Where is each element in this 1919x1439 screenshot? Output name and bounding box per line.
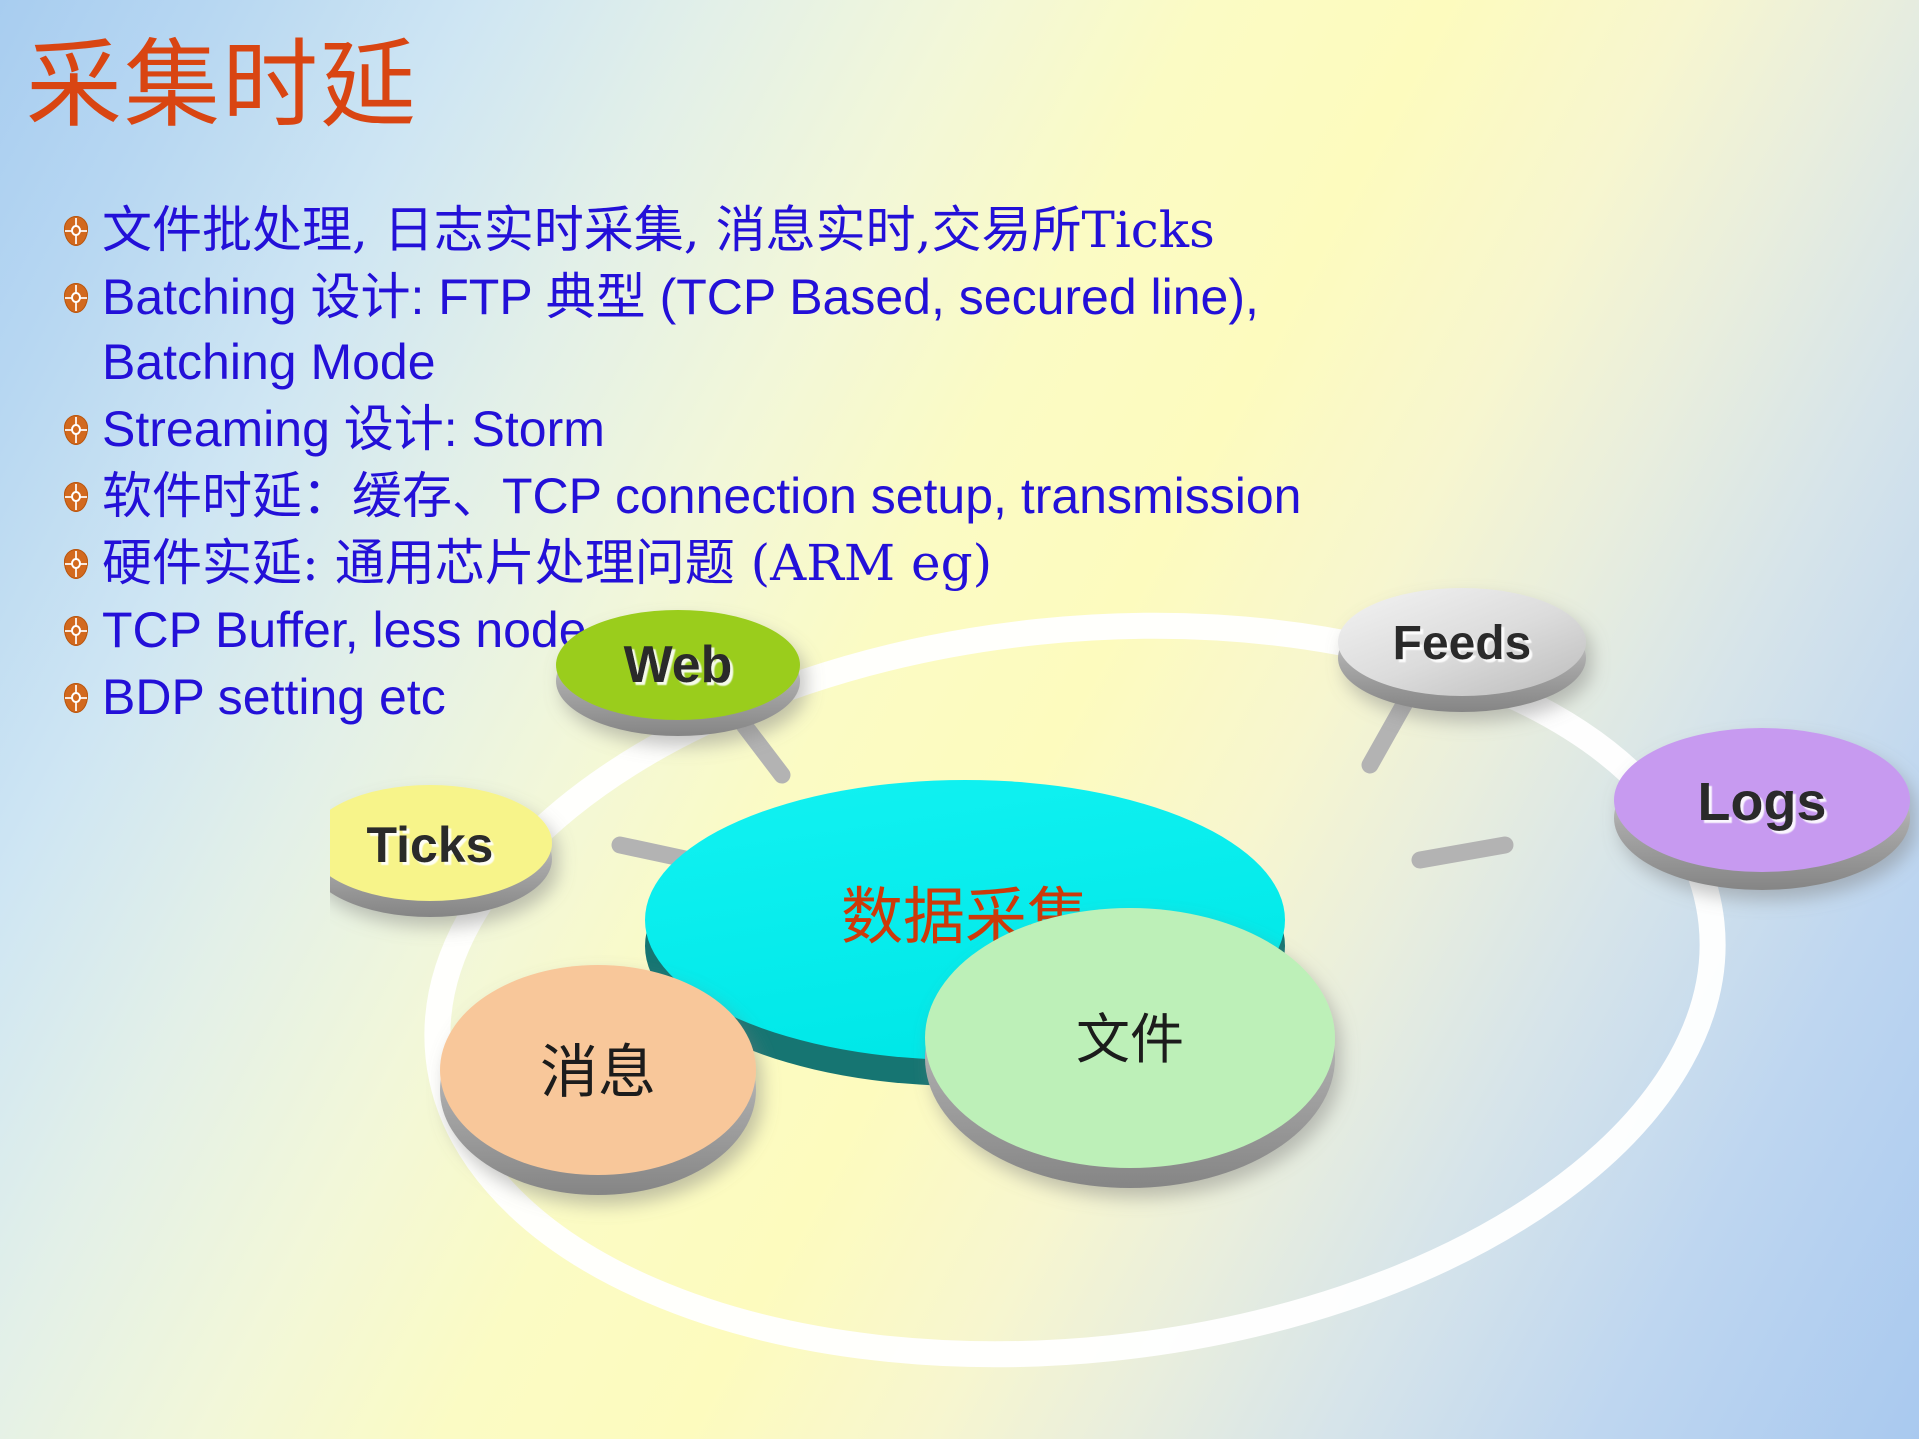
list-item-label: Batching 设计: FTP 典型 (TCP Based, secured … — [102, 265, 1346, 395]
list-item-label: Streaming 设计: Storm — [102, 397, 1346, 462]
list-item: Streaming 设计: Storm — [56, 397, 1346, 462]
node-messages-label: 消息 — [540, 1038, 656, 1106]
node-feeds[interactable]: Feeds — [1338, 588, 1586, 712]
node-web-label: Web — [624, 636, 733, 694]
node-ticks-label: Ticks — [367, 817, 494, 873]
node-files-label: 文件 — [1076, 1008, 1184, 1071]
node-web[interactable]: Web — [556, 610, 800, 736]
diamond-bullet-icon — [56, 545, 102, 595]
diamond-bullet-icon — [56, 679, 102, 729]
node-files[interactable]: 文件 — [925, 908, 1335, 1188]
diamond-bullet-icon — [56, 612, 102, 662]
list-item-label: 软件时延：缓存、TCP connection setup, transmissi… — [102, 464, 1346, 529]
list-item: 文件批处理, 日志实时采集, 消息实时,交易所Ticks — [56, 198, 1346, 263]
node-feeds-label: Feeds — [1393, 617, 1532, 670]
radial-diagram: 数据采集 Web Feeds Logs — [330, 560, 1919, 1439]
diamond-bullet-icon — [56, 212, 102, 262]
list-item: 软件时延：缓存、TCP connection setup, transmissi… — [56, 464, 1346, 529]
node-messages[interactable]: 消息 — [440, 965, 756, 1195]
node-logs[interactable]: Logs — [1614, 728, 1910, 890]
diamond-bullet-icon — [56, 478, 102, 528]
list-item: Batching 设计: FTP 典型 (TCP Based, secured … — [56, 265, 1346, 395]
list-item-label: 文件批处理, 日志实时采集, 消息实时,交易所Ticks — [102, 198, 1346, 263]
diamond-bullet-icon — [56, 411, 102, 461]
node-logs-label: Logs — [1698, 772, 1827, 832]
diamond-bullet-icon — [56, 279, 102, 329]
page-title: 采集时延 — [26, 34, 418, 138]
node-ticks[interactable]: Ticks — [330, 785, 552, 917]
slide-canvas: 采集时延 文件批处理, 日志实时采集, 消息实时,交易所Ticks Batchi… — [0, 0, 1919, 1439]
